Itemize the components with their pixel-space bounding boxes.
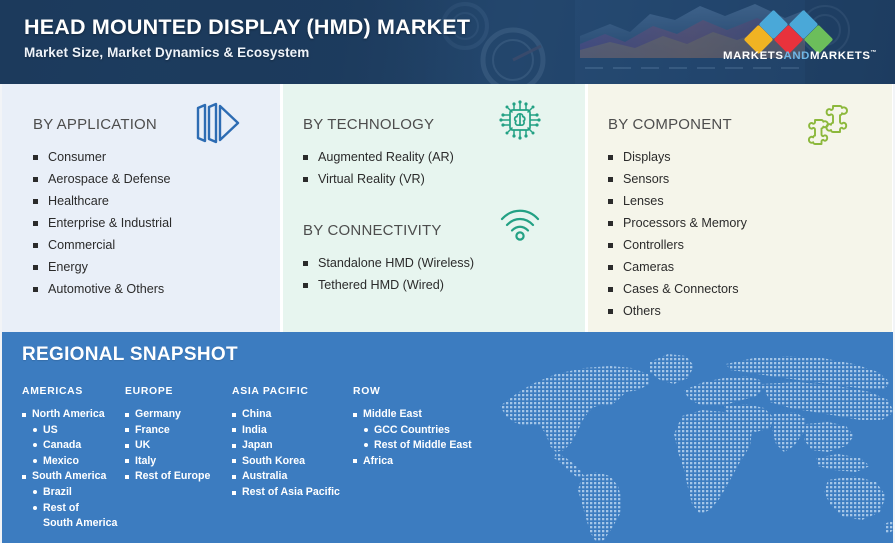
list-item: Rest of <box>22 501 117 517</box>
list-item: Cases & Connectors <box>608 278 747 300</box>
list-by-connectivity: Standalone HMD (Wireless) Tethered HMD (… <box>303 252 474 296</box>
list-item: France <box>125 423 210 439</box>
heading-by-component: BY COMPONENT <box>608 116 732 133</box>
list-item: Japan <box>232 438 340 454</box>
list-item: US <box>22 423 117 439</box>
list-by-application: Consumer Aerospace & Defense Healthcare … <box>33 146 172 300</box>
logo-word-markets-2: MARKETS <box>810 50 871 62</box>
regional-columns: AMERICAS North America US Canada Mexico … <box>22 386 492 536</box>
list-item: Virtual Reality (VR) <box>303 168 454 190</box>
list-item: Africa <box>353 454 472 470</box>
list-item: Rest of Middle East <box>353 438 472 454</box>
logo-word-and: AND <box>784 50 810 62</box>
wifi-icon <box>498 204 542 247</box>
logo-wordmark: MARKETSANDMARKETS™ <box>723 50 873 62</box>
list-item: Displays <box>608 146 747 168</box>
region-group-row: ROW Middle East GCC Countries Rest of Mi… <box>353 386 472 469</box>
list-item: Others <box>608 300 747 322</box>
region-group-europe: EUROPE Germany France UK Italy Rest of E… <box>125 386 210 485</box>
list-item: Controllers <box>608 234 747 256</box>
region-group-americas: AMERICAS North America US Canada Mexico … <box>22 386 117 532</box>
header-banner: HEAD MOUNTED DISPLAY (HMD) MARKET Market… <box>0 0 895 84</box>
list-item: Lenses <box>608 190 747 212</box>
heading-by-application: BY APPLICATION <box>33 116 157 133</box>
column-by-technology: BY TECHNOLOGY <box>283 84 588 332</box>
page-subtitle: Market Size, Market Dynamics & Ecosystem <box>24 45 470 60</box>
list-item: Commercial <box>33 234 172 256</box>
region-list: Germany France UK Italy Rest of Europe <box>125 407 210 485</box>
list-item: Italy <box>125 454 210 470</box>
list-item-continuation: South America <box>22 516 117 532</box>
list-item: Canada <box>22 438 117 454</box>
region-list: North America US Canada Mexico South Ame… <box>22 407 117 532</box>
header-text-block: HEAD MOUNTED DISPLAY (HMD) MARKET Market… <box>24 15 470 60</box>
region-heading: ROW <box>353 386 472 397</box>
list-item: Consumer <box>33 146 172 168</box>
heading-by-technology: BY TECHNOLOGY <box>303 116 434 133</box>
list-item: Germany <box>125 407 210 423</box>
region-list: Middle East GCC Countries Rest of Middle… <box>353 407 472 469</box>
list-item: India <box>232 423 340 439</box>
list-item: Sensors <box>608 168 747 190</box>
puzzle-pieces-icon <box>805 102 855 153</box>
list-item: Mexico <box>22 454 117 470</box>
list-item: China <box>232 407 340 423</box>
list-item: Augmented Reality (AR) <box>303 146 454 168</box>
world-map-dotted <box>498 334 895 543</box>
vr-headset-layers-icon <box>194 102 242 149</box>
list-item: Enterprise & Industrial <box>33 212 172 234</box>
list-item: Rest of Europe <box>125 469 210 485</box>
list-item: Rest of Asia Pacific <box>232 485 340 501</box>
column-by-component: BY COMPONENT Displays Sensors Lenses Pro… <box>588 84 892 332</box>
region-heading: EUROPE <box>125 386 210 397</box>
list-item: GCC Countries <box>353 423 472 439</box>
page-title: HEAD MOUNTED DISPLAY (HMD) MARKET <box>24 15 470 40</box>
list-item: Tethered HMD (Wired) <box>303 274 474 296</box>
segment-columns: BY APPLICATION Consumer Aerospace & Defe… <box>0 84 895 332</box>
marketsandmarkets-logo[interactable]: MARKETSANDMARKETS™ <box>723 16 873 72</box>
list-item: Australia <box>232 469 340 485</box>
region-list: China India Japan South Korea Australia … <box>232 407 340 501</box>
list-item: Cameras <box>608 256 747 278</box>
regional-snapshot-title: REGIONAL SNAPSHOT <box>22 344 238 366</box>
list-item: Automotive & Others <box>33 278 172 300</box>
heading-by-connectivity: BY CONNECTIVITY <box>303 222 442 239</box>
column-by-application: BY APPLICATION Consumer Aerospace & Defe… <box>0 84 283 332</box>
list-item: Energy <box>33 256 172 278</box>
region-group-asia-pacific: ASIA PACIFIC China India Japan South Kor… <box>232 386 340 501</box>
region-heading: AMERICAS <box>22 386 117 397</box>
region-heading: ASIA PACIFIC <box>232 386 340 397</box>
logo-diamonds <box>723 16 873 48</box>
logo-trademark: ™ <box>871 50 878 56</box>
list-by-component: Displays Sensors Lenses Processors & Mem… <box>608 146 747 322</box>
list-item: North America <box>22 407 117 423</box>
list-item: South Korea <box>232 454 340 470</box>
list-by-technology: Augmented Reality (AR) Virtual Reality (… <box>303 146 454 190</box>
list-item: Middle East <box>353 407 472 423</box>
list-item: Standalone HMD (Wireless) <box>303 252 474 274</box>
list-item: Processors & Memory <box>608 212 747 234</box>
list-item: South America <box>22 469 117 485</box>
list-item: UK <box>125 438 210 454</box>
hmd-market-infographic: HEAD MOUNTED DISPLAY (HMD) MARKET Market… <box>0 0 895 543</box>
ai-chip-icon <box>498 98 542 147</box>
list-item: Healthcare <box>33 190 172 212</box>
logo-word-markets-1: MARKETS <box>723 50 784 62</box>
list-item: Aerospace & Defense <box>33 168 172 190</box>
list-item: Brazil <box>22 485 117 501</box>
left-edge-border <box>0 84 2 543</box>
regional-snapshot-section: REGIONAL SNAPSHOT AMERICAS North America… <box>0 332 895 543</box>
